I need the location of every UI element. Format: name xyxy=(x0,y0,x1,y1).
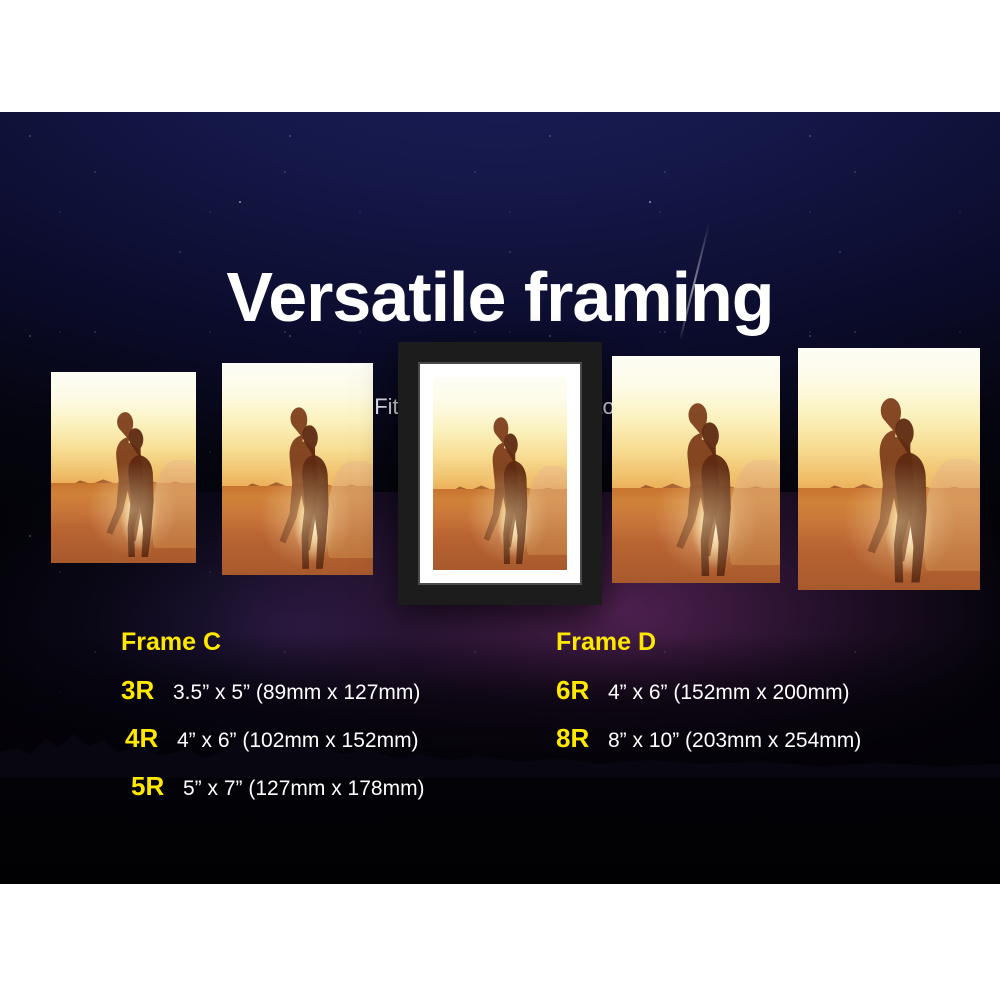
couple-silhouette xyxy=(83,401,164,558)
spec-size: 4” x 6” (152mm x 200mm) xyxy=(608,682,850,703)
page-title: Versatile framing xyxy=(0,262,1000,332)
couple-silhouette xyxy=(838,384,940,582)
spec-code: 5R xyxy=(131,773,183,799)
photo-4r xyxy=(222,363,373,575)
sunset-scene xyxy=(798,348,980,590)
spec-row: 4R 4” x 6” (102mm x 152mm) xyxy=(121,725,425,751)
spec-size: 3.5” x 5” (89mm x 127mm) xyxy=(173,682,420,703)
spec-row: 3R 3.5” x 5” (89mm x 127mm) xyxy=(121,677,425,703)
spec-code: 3R xyxy=(121,677,173,703)
photo-6r xyxy=(612,356,780,583)
spec-column-frame-c: Frame C 3R 3.5” x 5” (89mm x 127mm) 4R 4… xyxy=(121,630,425,821)
mat-window xyxy=(433,377,567,570)
spec-title-frame-c: Frame C xyxy=(121,630,425,655)
spec-code: 4R xyxy=(125,725,177,751)
product-banner-canvas: Versatile framing White border Fit diffe… xyxy=(0,0,1000,1000)
spec-column-frame-d: Frame D 6R 4” x 6” (152mm x 200mm) 8R 8”… xyxy=(556,630,861,773)
spec-row: 5R 5” x 7” (127mm x 178mm) xyxy=(121,773,425,799)
photo-5r-framed xyxy=(398,342,602,605)
sunset-scene xyxy=(433,377,567,570)
spec-size: 4” x 6” (102mm x 152mm) xyxy=(177,730,419,751)
spec-row: 8R 8” x 10” (203mm x 254mm) xyxy=(556,725,861,751)
night-sky-banner: Versatile framing White border Fit diffe… xyxy=(0,112,1000,884)
spec-size: 5” x 7” (127mm x 178mm) xyxy=(183,778,425,799)
couple-silhouette xyxy=(462,406,537,564)
spec-row: 6R 4” x 6” (152mm x 200mm) xyxy=(556,677,861,703)
spec-size: 8” x 10” (203mm x 254mm) xyxy=(608,730,861,751)
sunset-scene xyxy=(51,372,196,563)
couple-silhouette xyxy=(255,395,340,569)
sunset-scene xyxy=(612,356,780,583)
spec-code: 8R xyxy=(556,725,608,751)
sunset-scene xyxy=(222,363,373,575)
couple-silhouette xyxy=(649,390,743,576)
spec-title-frame-d: Frame D xyxy=(556,630,861,655)
photo-3r xyxy=(51,372,196,563)
spec-code: 6R xyxy=(556,677,608,703)
white-mat-border xyxy=(420,364,580,583)
photo-8r xyxy=(798,348,980,590)
